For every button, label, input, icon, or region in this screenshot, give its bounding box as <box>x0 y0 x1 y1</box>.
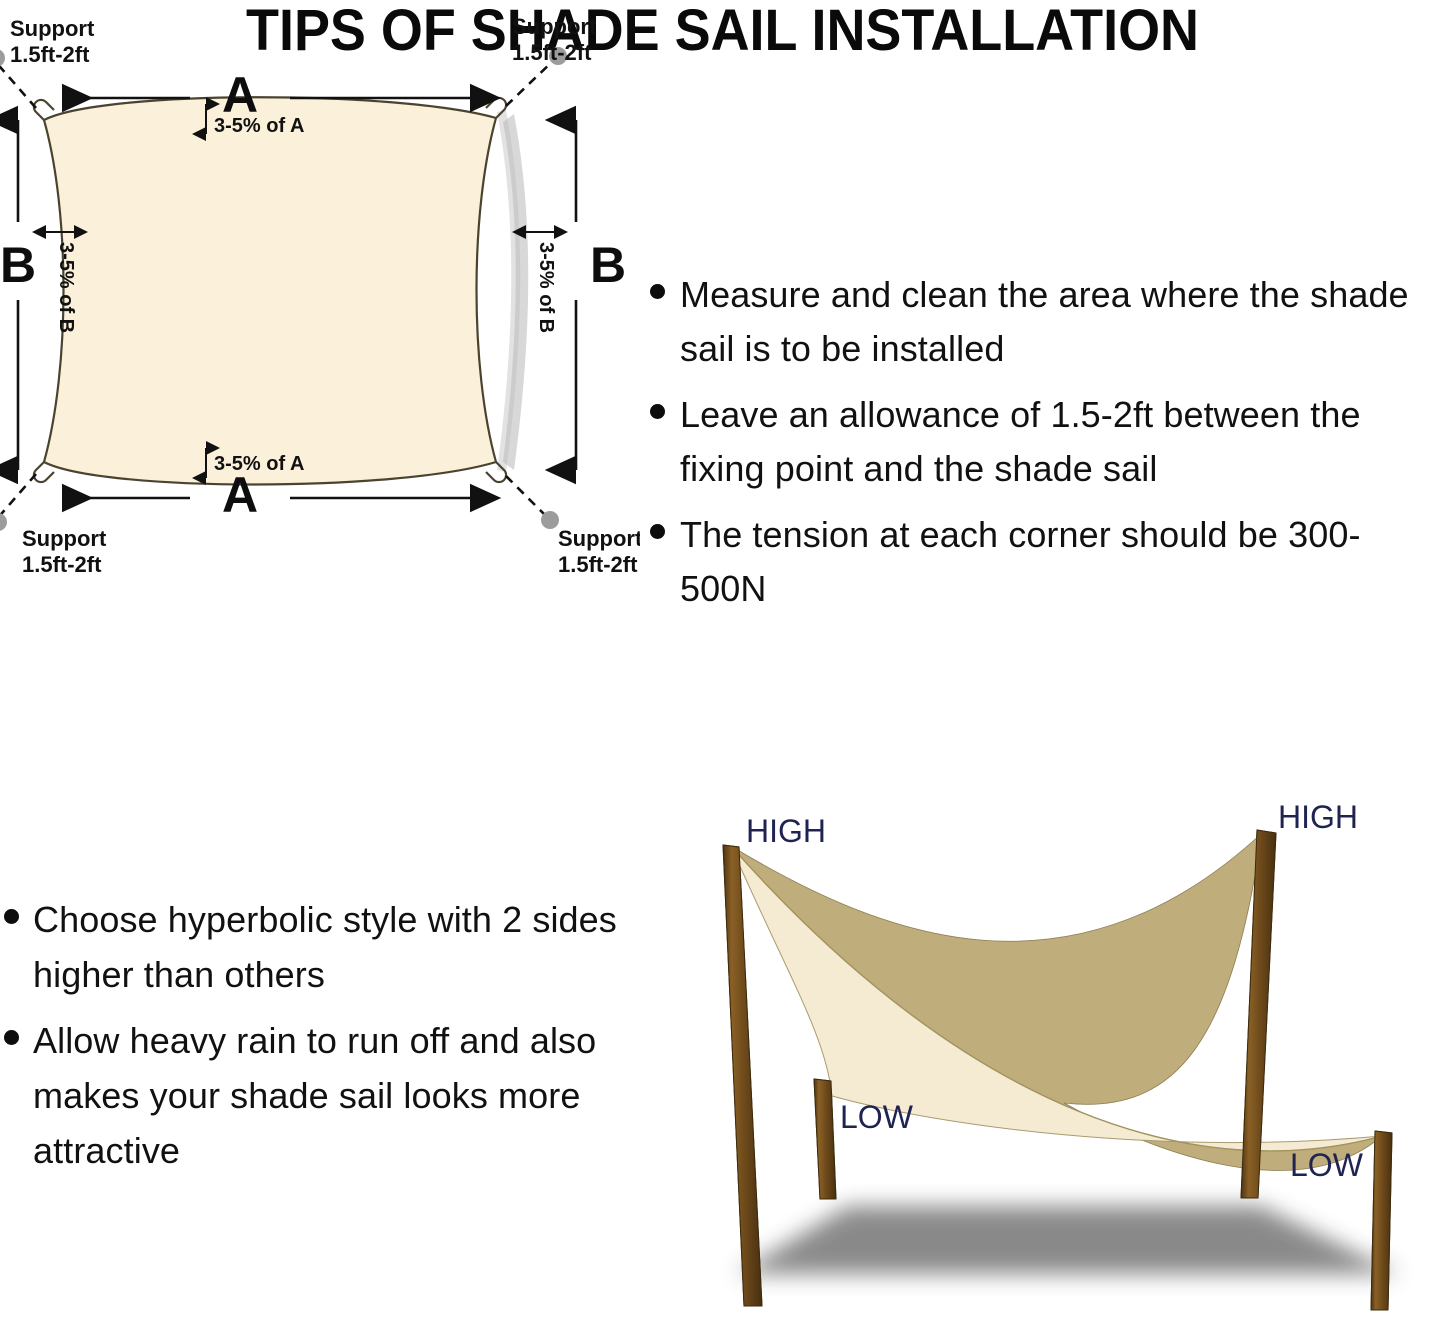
curve-note-bottom: 3-5% of A <box>214 453 304 475</box>
dimension-label-b-left: B <box>0 237 36 293</box>
tether-top-right <box>506 58 556 106</box>
label-low-right: LOW <box>1290 1147 1364 1183</box>
support-caption-bottom-left-line2: 1.5ft-2ft <box>22 552 102 577</box>
label-high-left: HIGH <box>746 813 826 849</box>
hyperbolic-sail-illustration: HIGH HIGH LOW LOW <box>640 786 1445 1319</box>
rectangular-sail-diagram: A 3-5% of A A 3-5% of A B 3-5% of B <box>0 0 640 580</box>
list-item: The tension at each corner should be 300… <box>650 508 1445 616</box>
support-caption-bottom-right-line2: 1.5ft-2ft <box>558 552 638 577</box>
post-low-left-front <box>814 1079 836 1199</box>
dimension-label-b-right: B <box>590 237 626 293</box>
bullet-dot-icon <box>650 404 665 419</box>
dimension-label-a-bottom: A <box>222 467 258 523</box>
bullet-dot-icon <box>4 909 19 924</box>
list-item-label: The tension at each corner should be 300… <box>680 508 1445 616</box>
support-caption-top-left-line2: 1.5ft-2ft <box>10 42 90 67</box>
sail-body <box>44 97 496 484</box>
support-caption-top-right-line2: 1.5ft-2ft <box>512 40 592 65</box>
bullet-dot-icon <box>650 524 665 539</box>
label-low-left: LOW <box>840 1099 914 1135</box>
curve-note-left: 3-5% of B <box>55 242 77 333</box>
support-caption-bottom-right-line1: Support <box>558 526 640 551</box>
installation-tips-list: Measure and clean the area where the sha… <box>650 268 1445 628</box>
support-caption-bottom-left-line1: Support <box>22 526 107 551</box>
list-item-label: Measure and clean the area where the sha… <box>680 268 1445 376</box>
tether-bottom-right <box>506 476 548 518</box>
support-caption-top-right-line1: Support <box>512 14 597 39</box>
list-item-label: Choose hyperbolic style with 2 sides hig… <box>33 893 624 1002</box>
hyperbolic-tips-list: Choose hyperbolic style with 2 sides hig… <box>4 893 624 1191</box>
label-high-right: HIGH <box>1278 799 1358 835</box>
list-item-label: Leave an allowance of 1.5-2ft between th… <box>680 388 1445 496</box>
list-item: Choose hyperbolic style with 2 sides hig… <box>4 893 624 1002</box>
ground-shadow <box>736 1206 1400 1274</box>
support-dot-bottom-left <box>0 513 7 531</box>
sail-edge-shadow <box>497 110 528 472</box>
curve-note-right: 3-5% of B <box>535 242 557 333</box>
bullet-dot-icon <box>650 284 665 299</box>
support-caption-top-left-line1: Support <box>10 16 95 41</box>
list-item: Measure and clean the area where the sha… <box>650 268 1445 376</box>
list-item: Leave an allowance of 1.5-2ft between th… <box>650 388 1445 496</box>
tether-top-left <box>0 60 36 108</box>
bullet-dot-icon <box>4 1030 19 1045</box>
support-dot-bottom-right <box>541 511 559 529</box>
post-low-right-front <box>1371 1131 1392 1310</box>
list-item-label: Allow heavy rain to run off and also mak… <box>33 1014 624 1178</box>
curve-note-top: 3-5% of A <box>214 115 304 137</box>
list-item: Allow heavy rain to run off and also mak… <box>4 1014 624 1178</box>
tether-bottom-left <box>0 474 36 520</box>
support-dot-top-left <box>0 49 5 67</box>
post-high-left-front <box>723 845 762 1306</box>
